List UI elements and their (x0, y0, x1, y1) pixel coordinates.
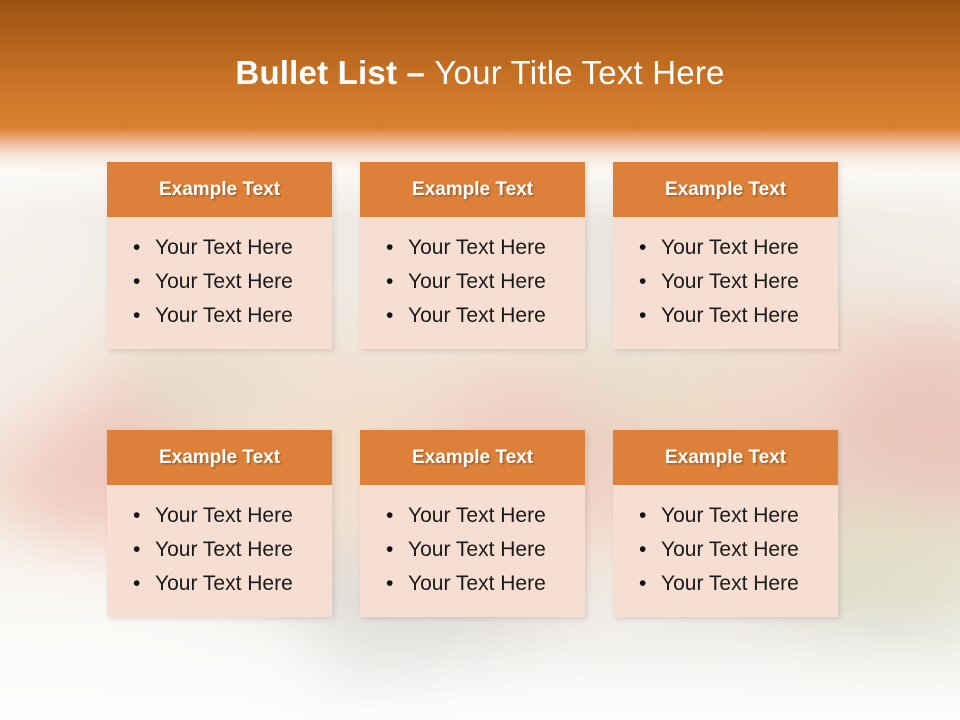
list-item-label: Your Text Here (408, 572, 546, 595)
list-item-label: Your Text Here (408, 270, 546, 293)
list-item-label: Your Text Here (155, 304, 293, 327)
bullet-list: •Your Text Here •Your Text Here •Your Te… (107, 499, 332, 601)
list-item-label: Your Text Here (661, 304, 799, 327)
list-item-label: Your Text Here (408, 504, 546, 527)
list-item: •Your Text Here (133, 499, 322, 533)
bullet-card-3-header: Example Text (613, 162, 838, 217)
bullet-card-2-body: •Your Text Here •Your Text Here •Your Te… (360, 217, 585, 349)
list-item: •Your Text Here (133, 265, 322, 299)
bullet-card-4-header: Example Text (107, 430, 332, 485)
bullet-card-5[interactable]: Example Text •Your Text Here •Your Text … (360, 430, 585, 617)
list-item: •Your Text Here (386, 499, 575, 533)
bullet-card-1-header: Example Text (107, 162, 332, 217)
list-item-label: Your Text Here (408, 538, 546, 561)
bullet-dot-icon: • (639, 231, 646, 265)
bullet-dot-icon: • (386, 265, 393, 299)
bullet-list: •Your Text Here •Your Text Here •Your Te… (107, 231, 332, 333)
list-item: •Your Text Here (133, 299, 322, 333)
bullet-dot-icon: • (133, 299, 140, 333)
list-item-label: Your Text Here (661, 270, 799, 293)
bullet-card-1-body: •Your Text Here •Your Text Here •Your Te… (107, 217, 332, 349)
bullet-card-4[interactable]: Example Text •Your Text Here •Your Text … (107, 430, 332, 617)
list-item-label: Your Text Here (661, 538, 799, 561)
bullet-dot-icon: • (386, 499, 393, 533)
list-item: •Your Text Here (386, 533, 575, 567)
list-item: •Your Text Here (639, 299, 828, 333)
list-item-label: Your Text Here (408, 304, 546, 327)
bullet-dot-icon: • (133, 567, 140, 601)
bullet-card-3-body: •Your Text Here •Your Text Here •Your Te… (613, 217, 838, 349)
page-title-bold: Bullet List – (235, 54, 434, 91)
list-item: •Your Text Here (386, 231, 575, 265)
bullet-list: •Your Text Here •Your Text Here •Your Te… (360, 499, 585, 601)
bullet-card-5-header: Example Text (360, 430, 585, 485)
bullet-dot-icon: • (639, 299, 646, 333)
list-item-label: Your Text Here (155, 270, 293, 293)
bullet-dot-icon: • (639, 567, 646, 601)
page-title-light: Your Title Text Here (434, 54, 724, 91)
bullet-card-1[interactable]: Example Text •Your Text Here •Your Text … (107, 162, 332, 349)
bullet-dot-icon: • (386, 567, 393, 601)
list-item: •Your Text Here (639, 231, 828, 265)
bullet-dot-icon: • (133, 499, 140, 533)
bullet-dot-icon: • (639, 265, 646, 299)
bullet-card-5-body: •Your Text Here •Your Text Here •Your Te… (360, 485, 585, 617)
bullet-list: •Your Text Here •Your Text Here •Your Te… (613, 231, 838, 333)
bullet-dot-icon: • (386, 533, 393, 567)
bullet-card-3[interactable]: Example Text •Your Text Here •Your Text … (613, 162, 838, 349)
bullet-list: •Your Text Here •Your Text Here •Your Te… (613, 499, 838, 601)
bullet-card-2-header: Example Text (360, 162, 585, 217)
list-item: •Your Text Here (639, 499, 828, 533)
list-item: •Your Text Here (133, 231, 322, 265)
bullet-dot-icon: • (386, 299, 393, 333)
list-item-label: Your Text Here (661, 572, 799, 595)
list-item: •Your Text Here (133, 533, 322, 567)
bullet-dot-icon: • (639, 499, 646, 533)
list-item: •Your Text Here (386, 265, 575, 299)
list-item-label: Your Text Here (661, 236, 799, 259)
list-item-label: Your Text Here (155, 236, 293, 259)
bullet-card-6-header: Example Text (613, 430, 838, 485)
list-item-label: Your Text Here (661, 504, 799, 527)
bullet-dot-icon: • (133, 265, 140, 299)
list-item-label: Your Text Here (155, 538, 293, 561)
bullet-card-4-body: •Your Text Here •Your Text Here •Your Te… (107, 485, 332, 617)
bullet-card-6-body: •Your Text Here •Your Text Here •Your Te… (613, 485, 838, 617)
bullet-card-2[interactable]: Example Text •Your Text Here •Your Text … (360, 162, 585, 349)
bullet-dot-icon: • (133, 231, 140, 265)
list-item: •Your Text Here (639, 265, 828, 299)
list-item-label: Your Text Here (155, 504, 293, 527)
list-item: •Your Text Here (386, 567, 575, 601)
bullet-dot-icon: • (133, 533, 140, 567)
list-item-label: Your Text Here (408, 236, 546, 259)
list-item-label: Your Text Here (155, 572, 293, 595)
bullet-list: •Your Text Here •Your Text Here •Your Te… (360, 231, 585, 333)
bullet-dot-icon: • (386, 231, 393, 265)
slide-canvas: Bullet List – Your Title Text Here Examp… (0, 0, 960, 720)
list-item: •Your Text Here (639, 567, 828, 601)
page-title: Bullet List – Your Title Text Here (0, 52, 960, 94)
list-item: •Your Text Here (639, 533, 828, 567)
list-item: •Your Text Here (133, 567, 322, 601)
bullet-card-6[interactable]: Example Text •Your Text Here •Your Text … (613, 430, 838, 617)
list-item: •Your Text Here (386, 299, 575, 333)
bullet-dot-icon: • (639, 533, 646, 567)
